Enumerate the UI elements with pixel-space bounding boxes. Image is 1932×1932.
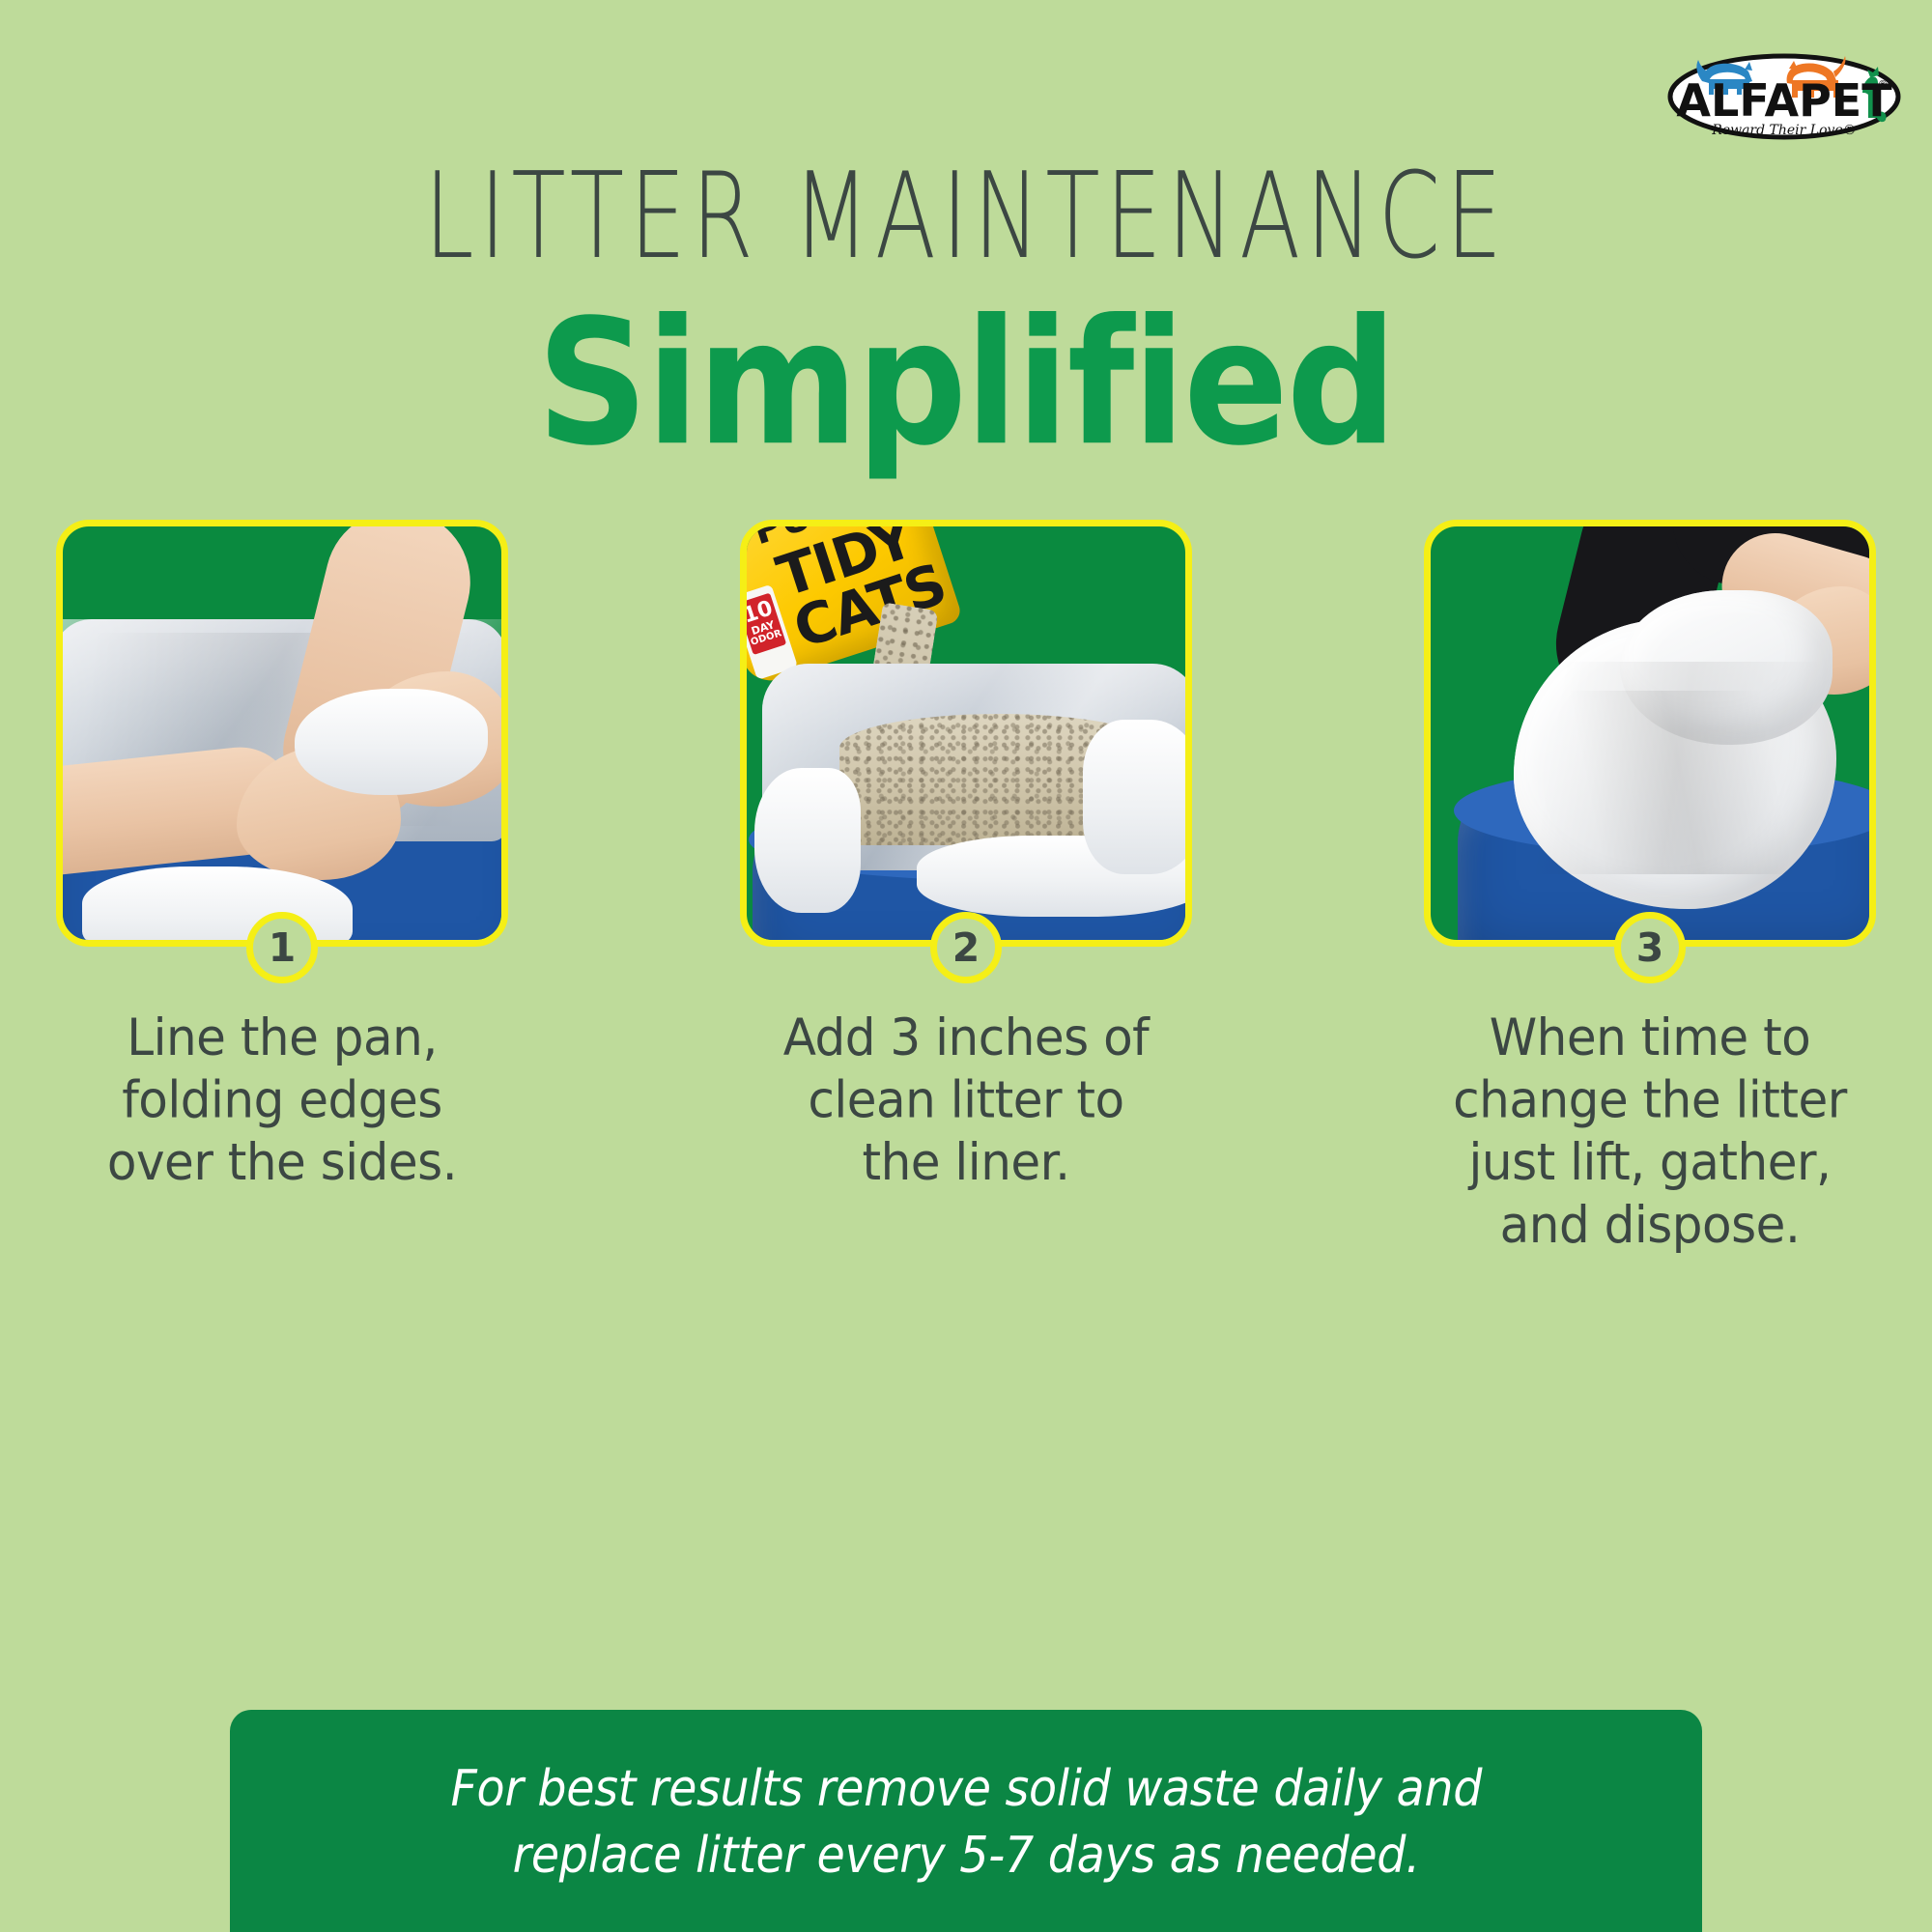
title-line-accent: Simplified: [0, 297, 1932, 469]
step-3: 3 When time to change the litter just li…: [1424, 520, 1876, 1242]
registered-mark: ®: [1878, 79, 1888, 90]
page-title: LITTER MAINTENANCE Simplified: [0, 155, 1932, 451]
step-1: 1 Line the pan, folding edges over the s…: [56, 520, 508, 1242]
logo-wordmark: ALFAPET: [1676, 74, 1892, 127]
step-3-number: 3: [1636, 928, 1664, 968]
step-1-photo: [56, 520, 508, 947]
step-2: CLUMPING LITTER PURINA TIDY CATS 10 DAY …: [740, 520, 1192, 1242]
step-3-badge: 3: [1614, 912, 1686, 983]
bottom-banner: For best results remove solid waste dail…: [230, 1710, 1702, 1932]
step-1-number: 1: [269, 928, 297, 968]
step-3-photo: [1424, 520, 1876, 947]
step-2-badge: 2: [930, 912, 1002, 983]
step-1-caption: Line the pan, folding edges over the sid…: [56, 1007, 508, 1194]
title-line-primary: LITTER MAINTENANCE: [39, 155, 1893, 279]
step-3-caption: When time to change the litter just lift…: [1424, 1007, 1876, 1257]
step-1-badge: 1: [246, 912, 318, 983]
banner-text: For best results remove solid waste dail…: [450, 1756, 1482, 1889]
step-2-caption: Add 3 inches of clean litter to the line…: [740, 1007, 1192, 1194]
step-2-photo: CLUMPING LITTER PURINA TIDY CATS 10 DAY …: [740, 520, 1192, 947]
alfapet-logo: ALFAPET ® Reward Their Love®: [1663, 37, 1905, 143]
steps-row: 1 Line the pan, folding edges over the s…: [56, 520, 1876, 1242]
logo-tagline: Reward Their Love®: [1711, 123, 1856, 138]
step-2-number: 2: [952, 928, 980, 968]
